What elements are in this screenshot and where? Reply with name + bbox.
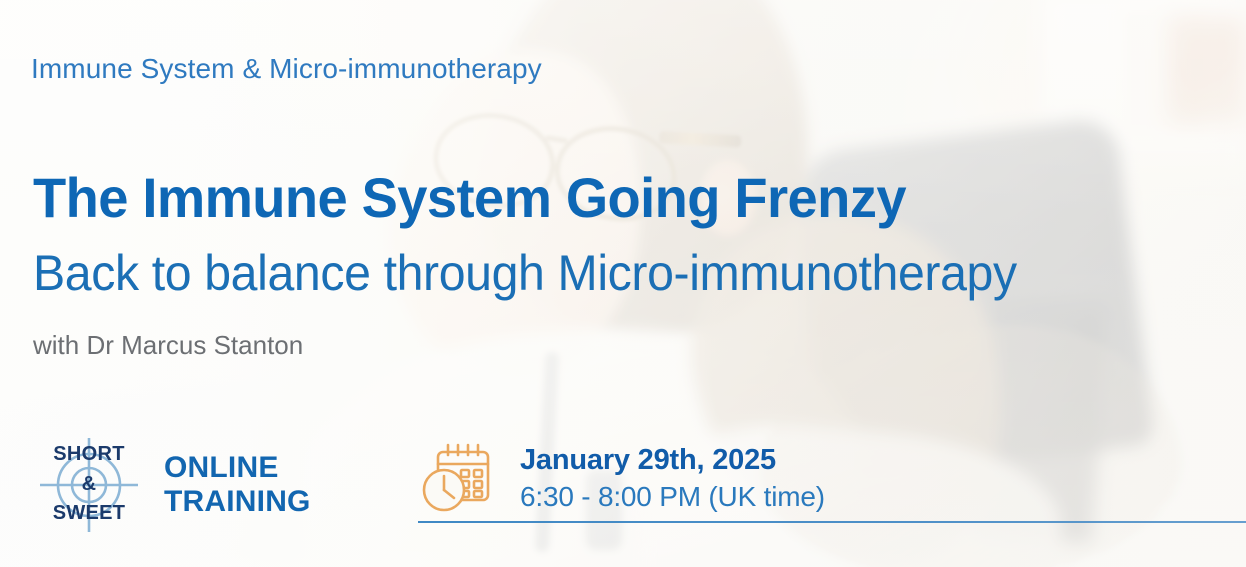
banner-content: Immune System & Micro-immunotherapy The … — [0, 0, 1246, 567]
presenter-name: with Dr Marcus Stanton — [33, 330, 303, 361]
page-title: The Immune System Going Frenzy — [33, 170, 906, 226]
event-datetime: January 29th, 2025 6:30 - 8:00 PM (UK ti… — [418, 440, 825, 518]
calendar-clock-icon — [418, 440, 496, 518]
divider-rule — [418, 521, 1246, 523]
format-label: ONLINE TRAINING — [164, 451, 311, 518]
short-and-sweet-logo: SHORT & SWEET ONLINE TRAINING — [34, 437, 311, 533]
webinar-banner: Immune System & Micro-immunotherapy The … — [0, 0, 1246, 567]
crosshair-target-icon: SHORT & SWEET — [34, 437, 144, 533]
event-time: 6:30 - 8:00 PM (UK time) — [520, 481, 825, 513]
topic-eyebrow: Immune System & Micro-immunotherapy — [31, 53, 542, 85]
event-date: January 29th, 2025 — [520, 444, 825, 477]
page-subtitle: Back to balance through Micro-immunother… — [33, 248, 1017, 298]
event-datetime-text: January 29th, 2025 6:30 - 8:00 PM (UK ti… — [520, 440, 825, 513]
